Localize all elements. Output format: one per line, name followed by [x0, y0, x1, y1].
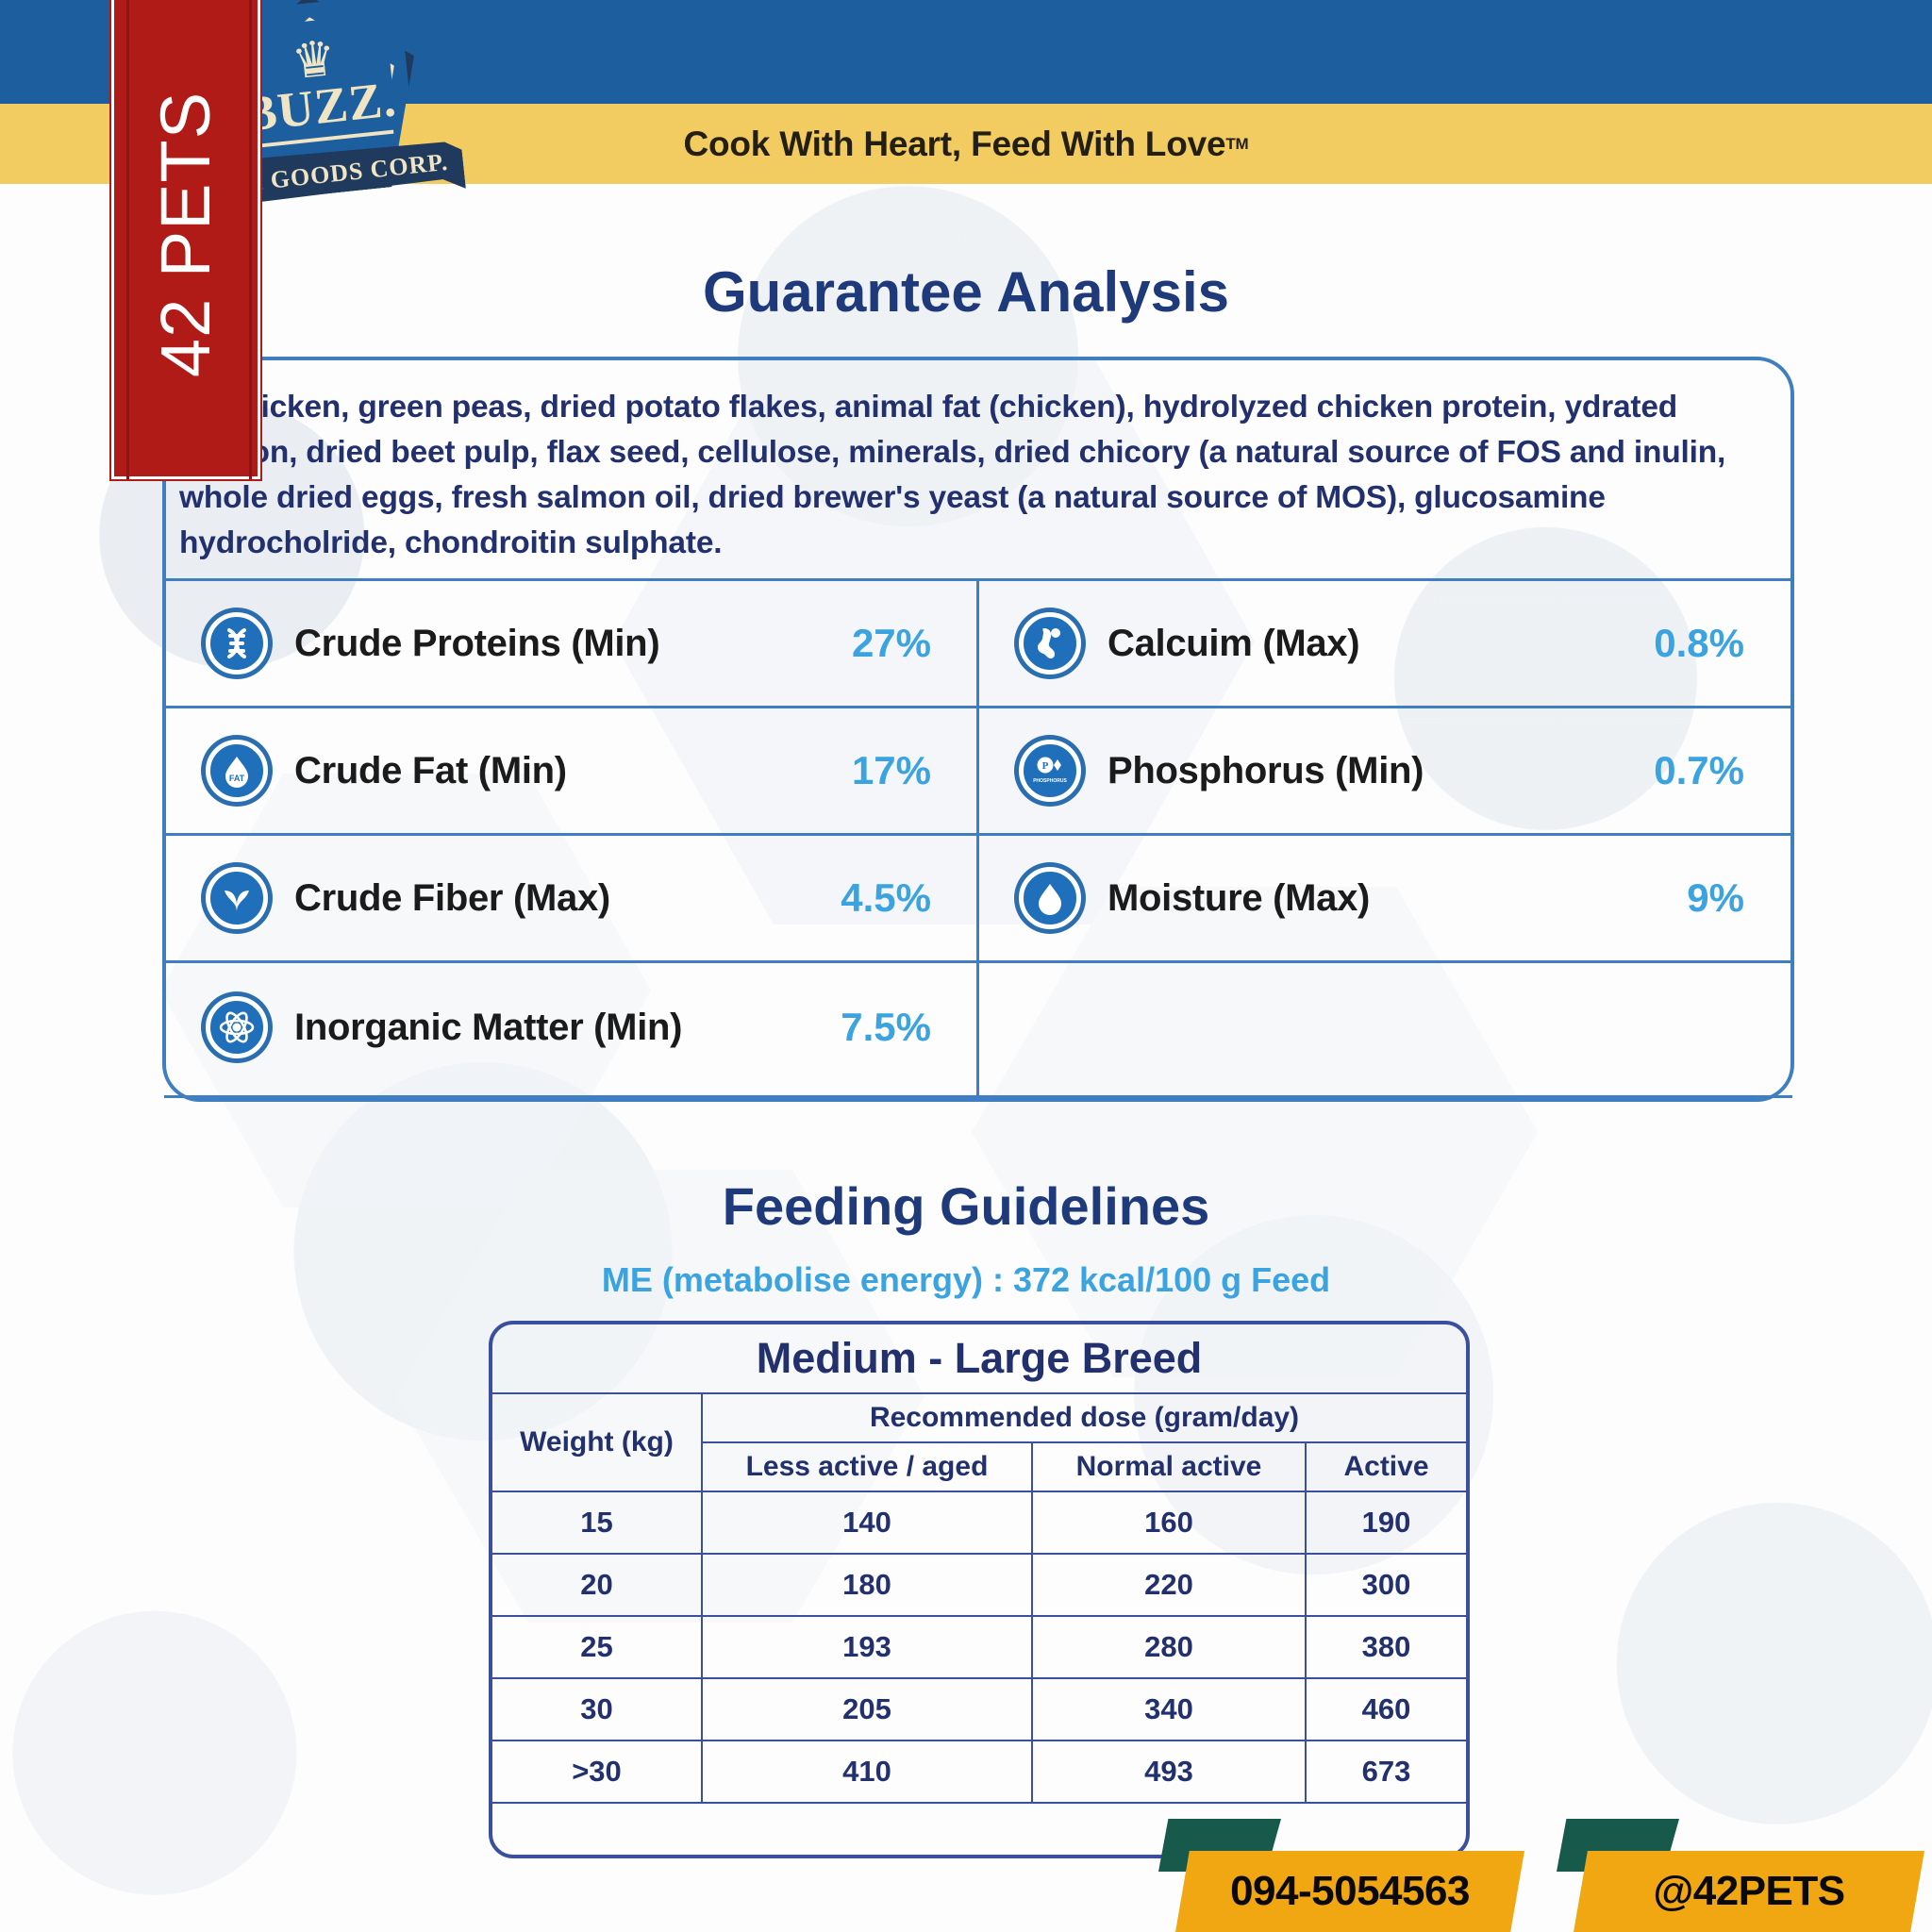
cell-normal-active: 160: [1032, 1491, 1306, 1554]
grid-vline-center: [976, 578, 979, 1100]
feeding-guidelines-title: Feeding Guidelines: [0, 1175, 1932, 1237]
contact-handle-text: @42PETS: [1653, 1868, 1844, 1915]
contact-phone-ribbon[interactable]: 094-5054563: [1158, 1851, 1536, 1932]
cell-normal-active: 340: [1032, 1678, 1306, 1740]
col-header-less-active: Less active / aged: [702, 1442, 1032, 1491]
cell-normal-active: 493: [1032, 1740, 1306, 1803]
cell-normal-active: 280: [1032, 1616, 1306, 1678]
cell-weight: 15: [492, 1491, 702, 1554]
nutrient-label: Crude Fat (Min): [294, 750, 852, 792]
col-header-weight: Weight (kg): [492, 1393, 702, 1491]
nutrient-row-crude-fat: FAT Crude Fat (Min) 17%: [177, 708, 974, 833]
feeding-table-card: Medium - Large Breed Weight (kg) Recomme…: [489, 1321, 1470, 1858]
leaf-fiber-icon: [206, 867, 268, 929]
table-row: 15 140 160 190: [492, 1491, 1466, 1554]
col-header-active: Active: [1306, 1442, 1466, 1491]
tagline-text: Cook With Heart, Feed With Love: [683, 125, 1225, 164]
guarantee-analysis-grid: Crude Proteins (Min) 27% Calcuim (Max) 0…: [164, 578, 1792, 1100]
table-row: >30 410 493 673: [492, 1740, 1466, 1803]
table-row: 25 193 280 380: [492, 1616, 1466, 1678]
watermark-strip-line-right: [249, 0, 252, 479]
feeding-table: Weight (kg) Recommended dose (gram/day) …: [492, 1392, 1466, 1804]
bone-joint-icon: [1019, 612, 1081, 675]
cell-less-active: 140: [702, 1491, 1032, 1554]
feeding-table-wrap: Weight (kg) Recommended dose (gram/day) …: [492, 1392, 1466, 1804]
nutrient-row-calcium: Calcuim (Max) 0.8%: [991, 581, 1788, 706]
nutrient-value: 17%: [852, 748, 974, 793]
ribbon-body: @42PETS: [1574, 1851, 1924, 1932]
atom-mineral-icon: [206, 996, 268, 1058]
metabolisable-energy-note: ME (metabolise energy) : 372 kcal/100 g …: [0, 1260, 1932, 1300]
watermark-strip-line-left: [126, 0, 129, 479]
nutrient-value: 4.5%: [841, 875, 974, 921]
table-row: 20 180 220 300: [492, 1554, 1466, 1616]
nutrient-label: Inorganic Matter (Min): [294, 1007, 841, 1049]
nutrient-row-phosphorus: P PHOSPHORUS Phosphorus (Min) 0.7%: [991, 708, 1788, 833]
cell-weight: >30: [492, 1740, 702, 1803]
cell-less-active: 410: [702, 1740, 1032, 1803]
ribbon-body: 094-5054563: [1175, 1851, 1524, 1932]
cell-less-active: 193: [702, 1616, 1032, 1678]
phosphorus-icon: P PHOSPHORUS: [1019, 740, 1081, 802]
cell-active: 673: [1306, 1740, 1466, 1803]
nutrient-row-inorganic-matter: Inorganic Matter (Min) 7.5%: [177, 965, 974, 1090]
cell-weight: 20: [492, 1554, 702, 1616]
nutrient-label: Calcuim (Max): [1108, 623, 1654, 665]
cell-normal-active: 220: [1032, 1554, 1306, 1616]
cell-active: 190: [1306, 1491, 1466, 1554]
watermark-42pets-strip: 42 PETS: [111, 0, 260, 479]
nutrient-row-crude-proteins: Crude Proteins (Min) 27%: [177, 581, 974, 706]
cell-less-active: 180: [702, 1554, 1032, 1616]
table-row: 30 205 340 460: [492, 1678, 1466, 1740]
trademark-symbol: TM: [1225, 135, 1248, 154]
table-header-row-1: Weight (kg) Recommended dose (gram/day): [492, 1393, 1466, 1442]
cell-weight: 25: [492, 1616, 702, 1678]
svg-text:PHOSPHORUS: PHOSPHORUS: [1033, 778, 1067, 784]
nutrient-row-crude-fiber: Crude Fiber (Max) 4.5%: [177, 836, 974, 960]
water-droplet-icon: [1019, 867, 1081, 929]
contact-handle-ribbon[interactable]: @42PETS: [1557, 1851, 1932, 1932]
fat-droplet-icon: FAT: [206, 740, 268, 802]
contact-phone-text: 094-5054563: [1230, 1868, 1470, 1915]
watermark-42pets-text: 42 PETS: [146, 91, 226, 376]
nutrient-value: 27%: [852, 621, 974, 666]
col-header-normal-active: Normal active: [1032, 1442, 1306, 1491]
cell-less-active: 205: [702, 1678, 1032, 1740]
col-header-dose: Recommended dose (gram/day): [702, 1393, 1466, 1442]
cell-active: 460: [1306, 1678, 1466, 1740]
svg-text:FAT: FAT: [229, 774, 245, 783]
poster-root: Cook With Heart, Feed With LoveTM ♛ BUZZ…: [0, 0, 1932, 1932]
nutrient-label: Crude Proteins (Min): [294, 623, 852, 665]
nutrient-label: Phosphorus (Min): [1108, 750, 1654, 792]
nutrient-row-moisture: Moisture (Max) 9%: [991, 836, 1788, 960]
nutrient-value: 7.5%: [841, 1005, 974, 1050]
nutrient-value: 9%: [1687, 875, 1788, 921]
cell-active: 300: [1306, 1554, 1466, 1616]
cell-active: 380: [1306, 1616, 1466, 1678]
dna-helix-icon: [206, 612, 268, 675]
ingredients-paragraph: sh chicken, green peas, dried potato fla…: [179, 385, 1783, 566]
svg-text:P: P: [1042, 760, 1049, 772]
nutrient-label: Moisture (Max): [1108, 877, 1687, 920]
nutrient-value: 0.8%: [1654, 621, 1788, 666]
breed-heading: Medium - Large Breed: [492, 1324, 1466, 1392]
guarantee-analysis-title: Guarantee Analysis: [0, 259, 1932, 325]
nutrient-label: Crude Fiber (Max): [294, 877, 841, 920]
nutrient-value: 0.7%: [1654, 748, 1788, 793]
cell-weight: 30: [492, 1678, 702, 1740]
